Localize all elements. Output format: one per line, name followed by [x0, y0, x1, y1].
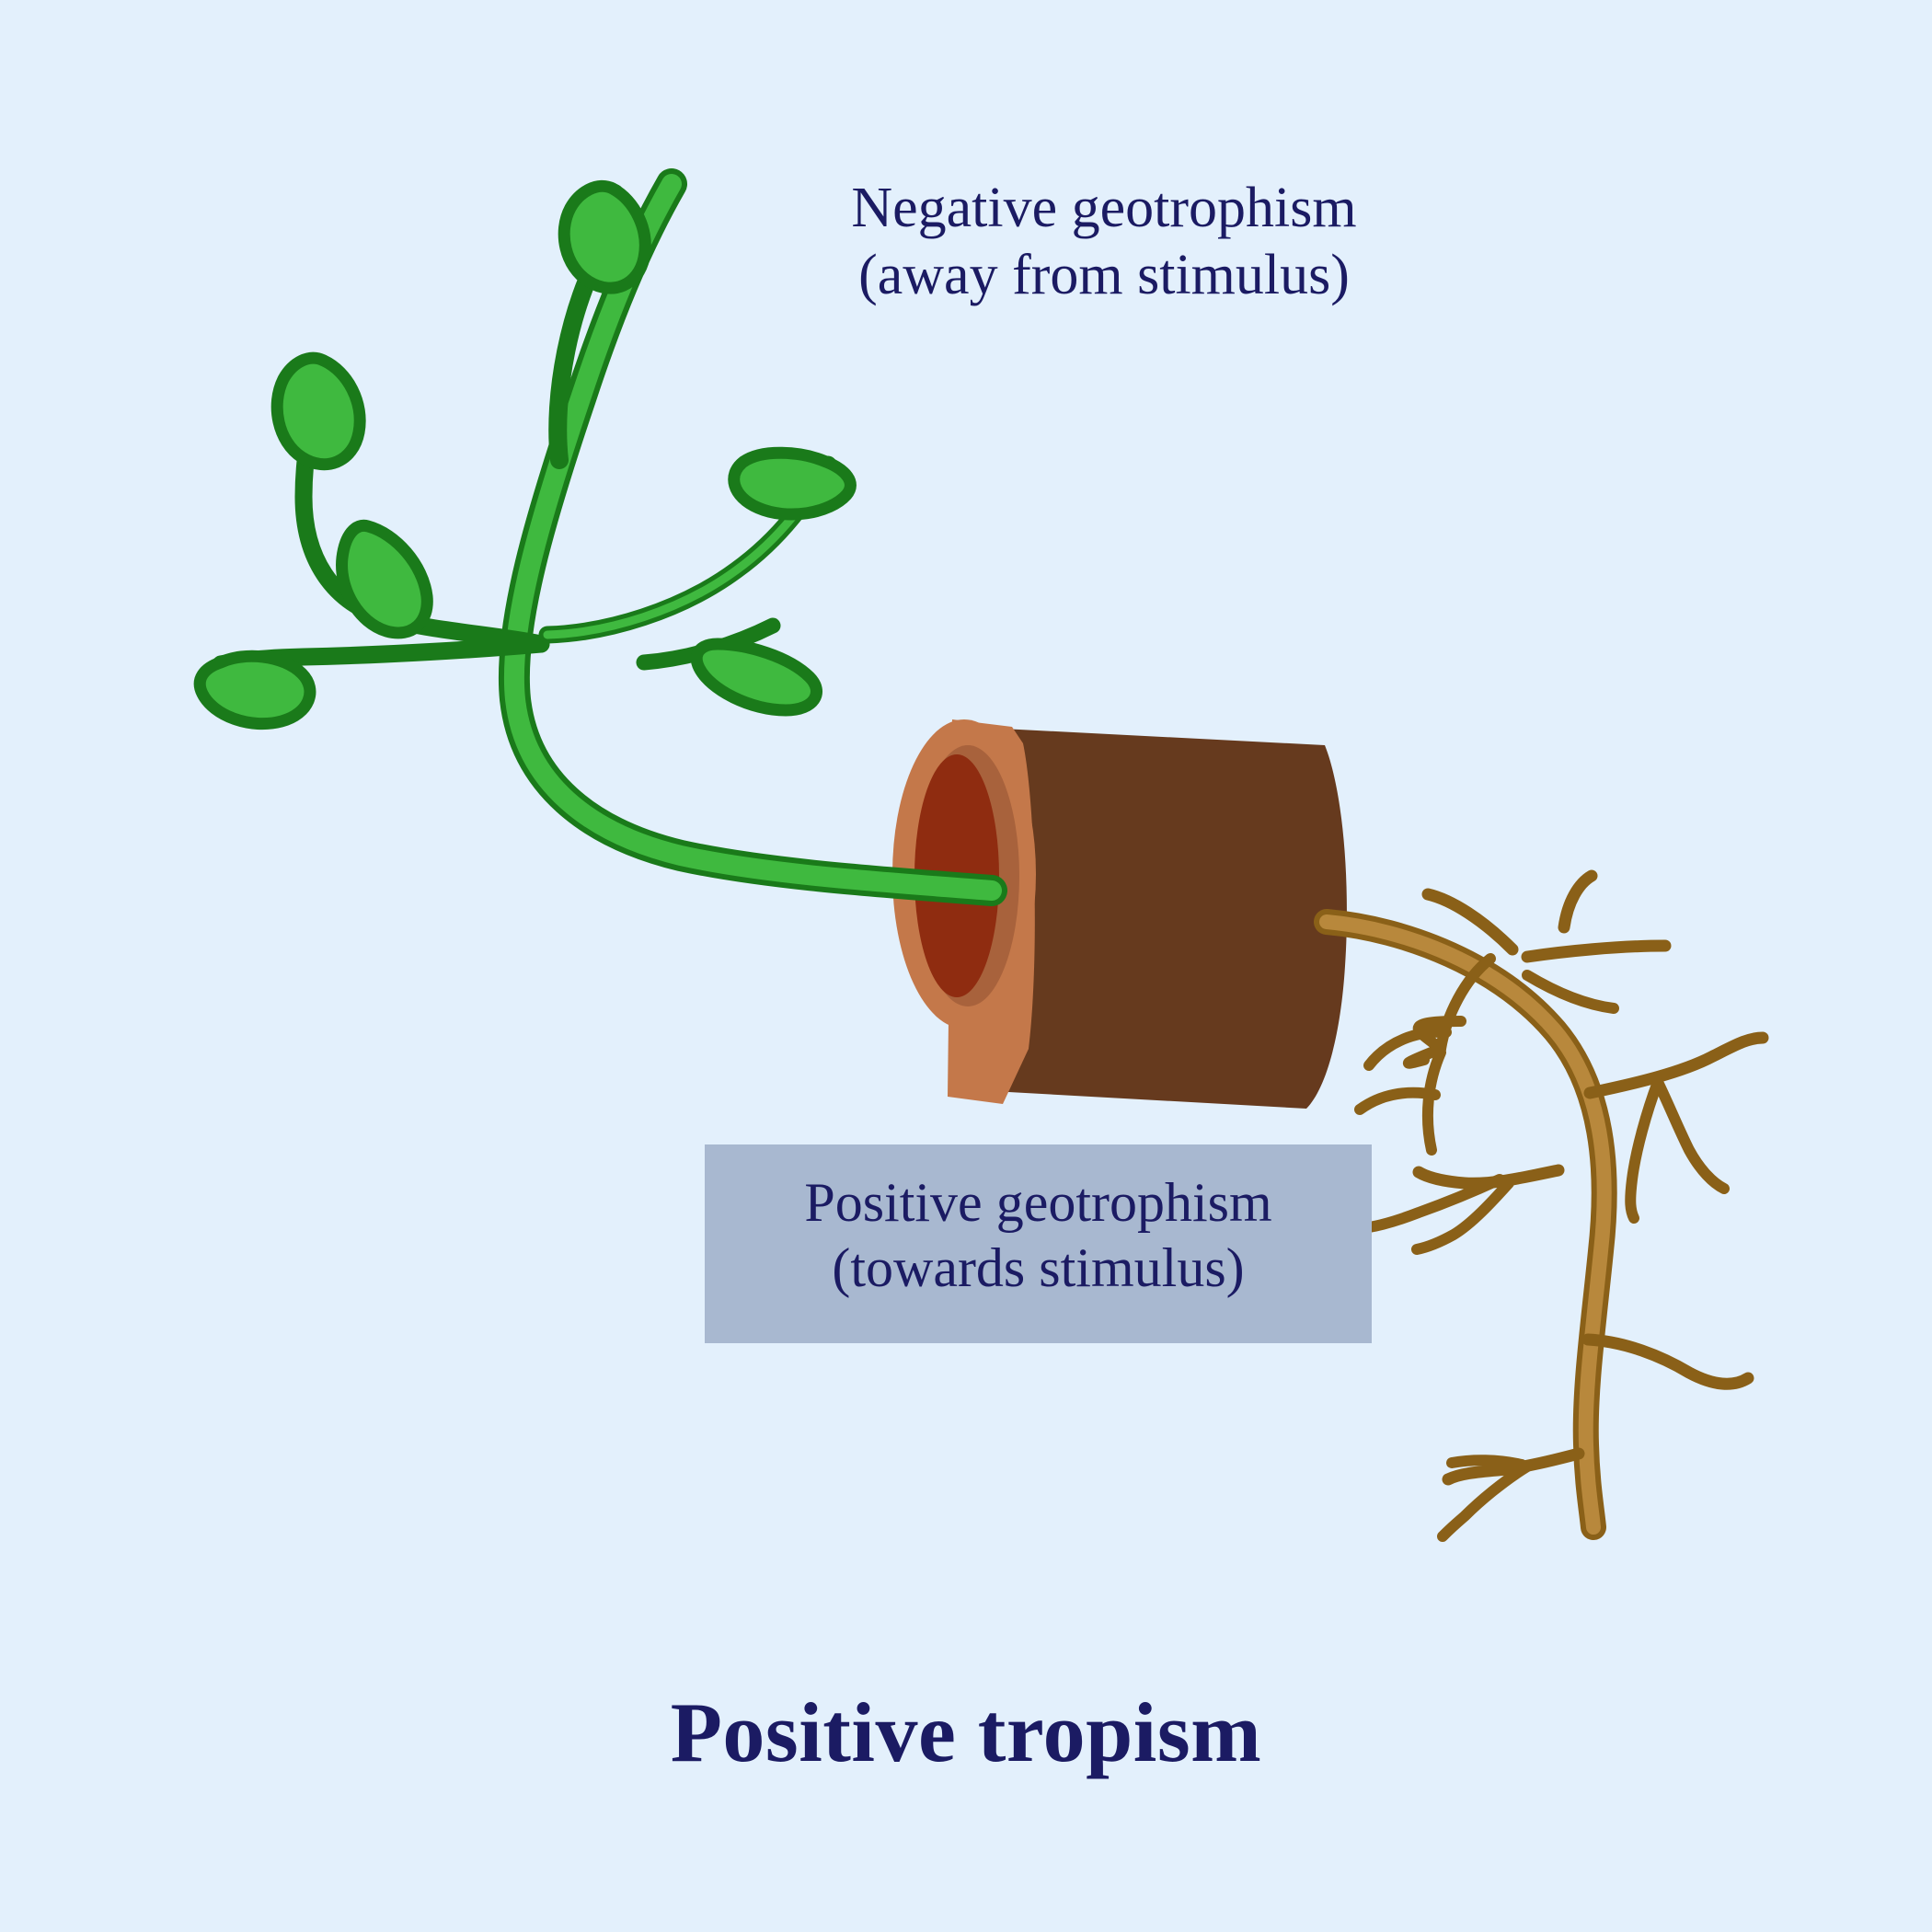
leaf	[734, 453, 851, 514]
rootlet	[1428, 1052, 1441, 1150]
leaf	[696, 644, 816, 710]
rootlet	[1656, 1078, 1724, 1189]
page-title: Positive tropism	[0, 1684, 1932, 1781]
rootlet	[1452, 1460, 1522, 1465]
leaf	[277, 358, 360, 465]
leaf	[200, 656, 310, 723]
negative-geotropism-label: Negative geotrophism (away from stimulus…	[754, 175, 1454, 309]
rootlet	[1527, 946, 1665, 957]
diagram-canvas: Negative geotrophism (away from stimulus…	[0, 0, 1932, 1932]
leaf	[564, 186, 645, 288]
rootlet	[1590, 1038, 1763, 1093]
rootlet	[1588, 1340, 1748, 1384]
flower-pot	[892, 719, 1347, 1109]
rootlet	[1564, 876, 1592, 927]
rootlet	[1630, 1082, 1658, 1218]
leaf	[342, 525, 428, 633]
plant-root	[1327, 876, 1763, 1536]
positive-geotropism-label: Positive geotrophism (towards stimulus)	[705, 1170, 1372, 1301]
